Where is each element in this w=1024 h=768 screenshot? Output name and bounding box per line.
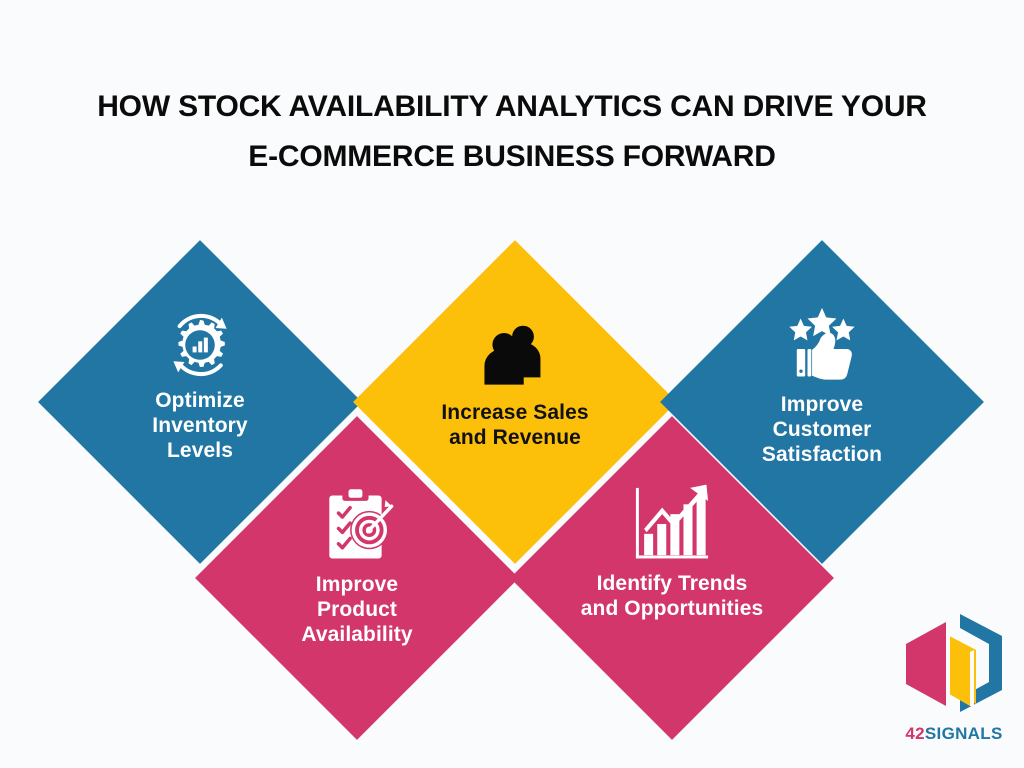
42signals-logo[interactable]: 42SIGNALS — [890, 606, 1018, 742]
logo-wordmark-42: 42 — [905, 724, 925, 743]
hexagonal-cube-icon — [890, 606, 1018, 723]
diamond-grid: Optimize Inventory Levels Increase Sales… — [0, 0, 1024, 768]
logo-wordmark: 42SIGNALS — [890, 725, 1018, 743]
logo-wordmark-signals: SIGNALS — [925, 724, 1003, 743]
